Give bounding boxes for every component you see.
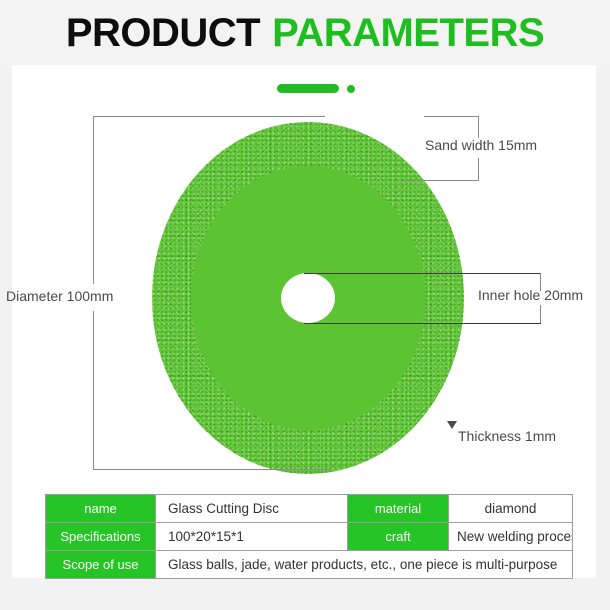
page-title: PRODUCT PARAMETERS: [0, 0, 610, 65]
cell-name-value: Glass Cutting Disc: [156, 495, 348, 523]
inner-hole-leader-lower: [304, 323, 541, 324]
cell-specifications-label: Specifications: [46, 523, 156, 551]
diameter-bracket-upper: [93, 116, 94, 284]
cell-scope-label: Scope of use: [46, 551, 156, 579]
thickness-arrow-icon: [447, 421, 457, 429]
sand-width-bracket-upper: [478, 116, 479, 138]
sand-width-leader-lower: [403, 180, 479, 181]
cell-name-label: name: [46, 495, 156, 523]
cell-material-label: material: [348, 495, 449, 523]
diameter-bracket-top-arm: [93, 116, 325, 117]
table-row: name Glass Cutting Disc material diamond: [46, 495, 573, 523]
sand-width-leader-upper: [424, 116, 479, 117]
decorative-marker: [277, 84, 367, 94]
label-sand-width: Sand width 15mm: [425, 137, 537, 153]
inner-hole-bracket-lower: [540, 305, 541, 323]
label-thickness: Thickness 1mm: [458, 428, 556, 444]
cell-craft-label: craft: [348, 523, 449, 551]
cell-craft-value: New welding process: [449, 523, 573, 551]
sand-width-bracket-lower: [478, 158, 479, 180]
marker-dot-icon: [347, 85, 355, 93]
inner-hole-leader-upper: [304, 273, 541, 274]
specification-table: name Glass Cutting Disc material diamond…: [45, 494, 573, 579]
table-row: Scope of use Glass balls, jade, water pr…: [46, 551, 573, 579]
title-word-product: PRODUCT: [66, 13, 260, 53]
title-word-parameters: PARAMETERS: [272, 13, 544, 53]
marker-bar-icon: [277, 84, 339, 93]
diameter-bracket-bottom-arm: [93, 469, 330, 470]
label-diameter: Diameter 100mm: [6, 288, 113, 304]
cell-specifications-value: 100*20*15*1: [156, 523, 348, 551]
diameter-bracket-lower: [93, 311, 94, 469]
disc-inner-hole: [281, 273, 335, 323]
cutting-disc-illustration: [152, 122, 464, 474]
table-row: Specifications 100*20*15*1 craft New wel…: [46, 523, 573, 551]
label-inner-hole: Inner hole 20mm: [478, 287, 583, 303]
cell-material-value: diamond: [449, 495, 573, 523]
cell-scope-value: Glass balls, jade, water products, etc.,…: [156, 551, 573, 579]
